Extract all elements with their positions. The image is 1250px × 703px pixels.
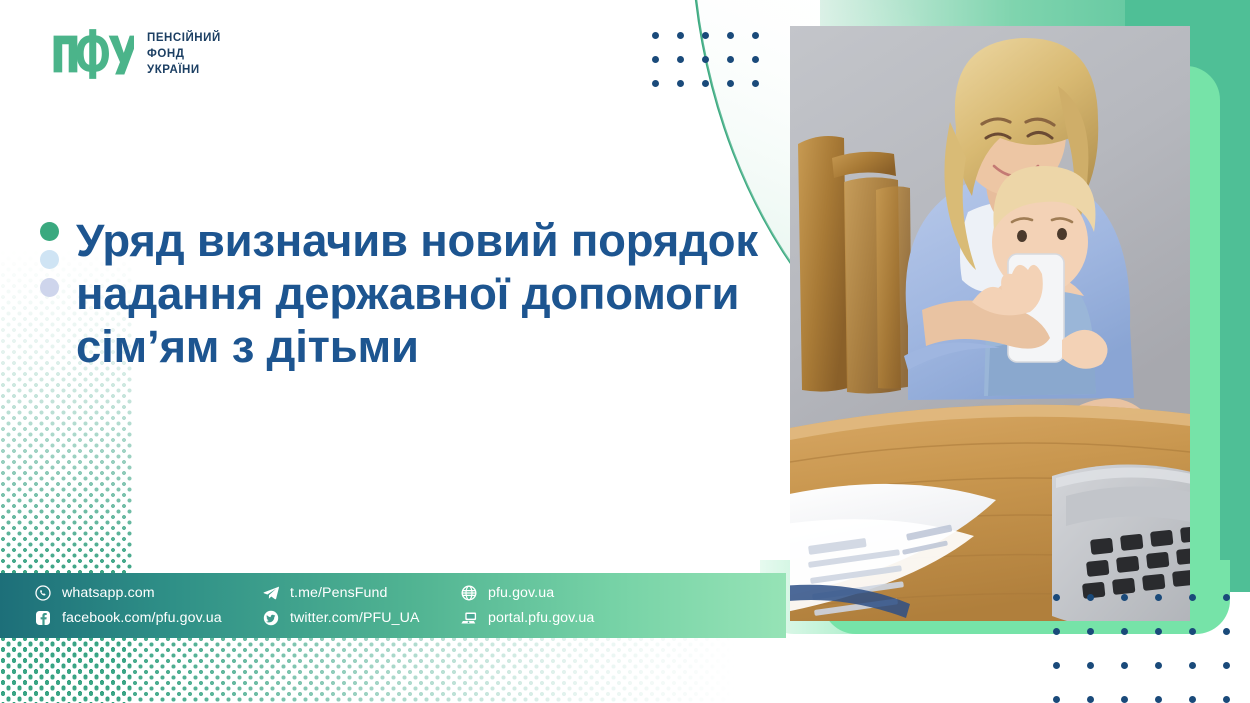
globe-icon [461,585,477,601]
whatsapp-icon [35,585,51,601]
decorative-dot-grid-top [652,32,759,104]
pfu-logo-icon [52,27,134,81]
facebook-icon [35,610,51,626]
headline-bullets [40,214,59,374]
brand-name-line2: ФОНД [147,46,221,62]
contact-portal[interactable]: portal.pfu.gov.ua [461,610,661,626]
headline-block: Уряд визначив новий порядок надання держ… [40,214,766,374]
portal-icon [461,610,477,626]
bullet-dot-green [40,222,59,241]
contact-facebook[interactable]: facebook.com/pfu.gov.ua [35,610,263,626]
telegram-icon [263,585,279,601]
contact-label: twitter.com/PFU_UA [290,610,420,626]
brand-logo[interactable]: ПЕНСІЙНИЙ ФОНД УКРАЇНИ [52,27,221,81]
footer-column-3: pfu.gov.ua portal.pfu.gov.ua [461,585,661,626]
page-title: Уряд визначив новий порядок надання держ… [76,214,766,374]
contact-twitter[interactable]: twitter.com/PFU_UA [263,610,461,626]
footer-column-2: t.me/PensFund twitter.com/PFU_UA [263,585,461,626]
brand-name: ПЕНСІЙНИЙ ФОНД УКРАЇНИ [147,30,221,79]
brand-name-line3: УКРАЇНИ [147,62,221,78]
contact-label: t.me/PensFund [290,585,388,601]
footer-column-1: whatsapp.com facebook.com/pfu.gov.ua [35,585,263,626]
halftone-pattern-bottom [0,636,800,703]
contact-telegram[interactable]: t.me/PensFund [263,585,461,601]
contact-label: pfu.gov.ua [488,585,554,601]
contact-label: facebook.com/pfu.gov.ua [62,610,222,626]
bullet-dot-lavender [40,278,59,297]
bullet-dot-lightblue [40,250,59,269]
decorative-dot-grid-bottom-right [1053,594,1250,703]
contact-whatsapp[interactable]: whatsapp.com [35,585,263,601]
poster-canvas: ПЕНСІЙНИЙ ФОНД УКРАЇНИ Уряд визначив нов… [0,0,1250,703]
brand-name-line1: ПЕНСІЙНИЙ [147,30,221,46]
footer-contacts-bar: whatsapp.com facebook.com/pfu.gov.ua t.m… [0,573,786,638]
family-photo-image [790,26,1190,621]
contact-website[interactable]: pfu.gov.ua [461,585,661,601]
contact-label: whatsapp.com [62,585,155,601]
contact-label: portal.pfu.gov.ua [488,610,594,626]
twitter-icon [263,610,279,626]
